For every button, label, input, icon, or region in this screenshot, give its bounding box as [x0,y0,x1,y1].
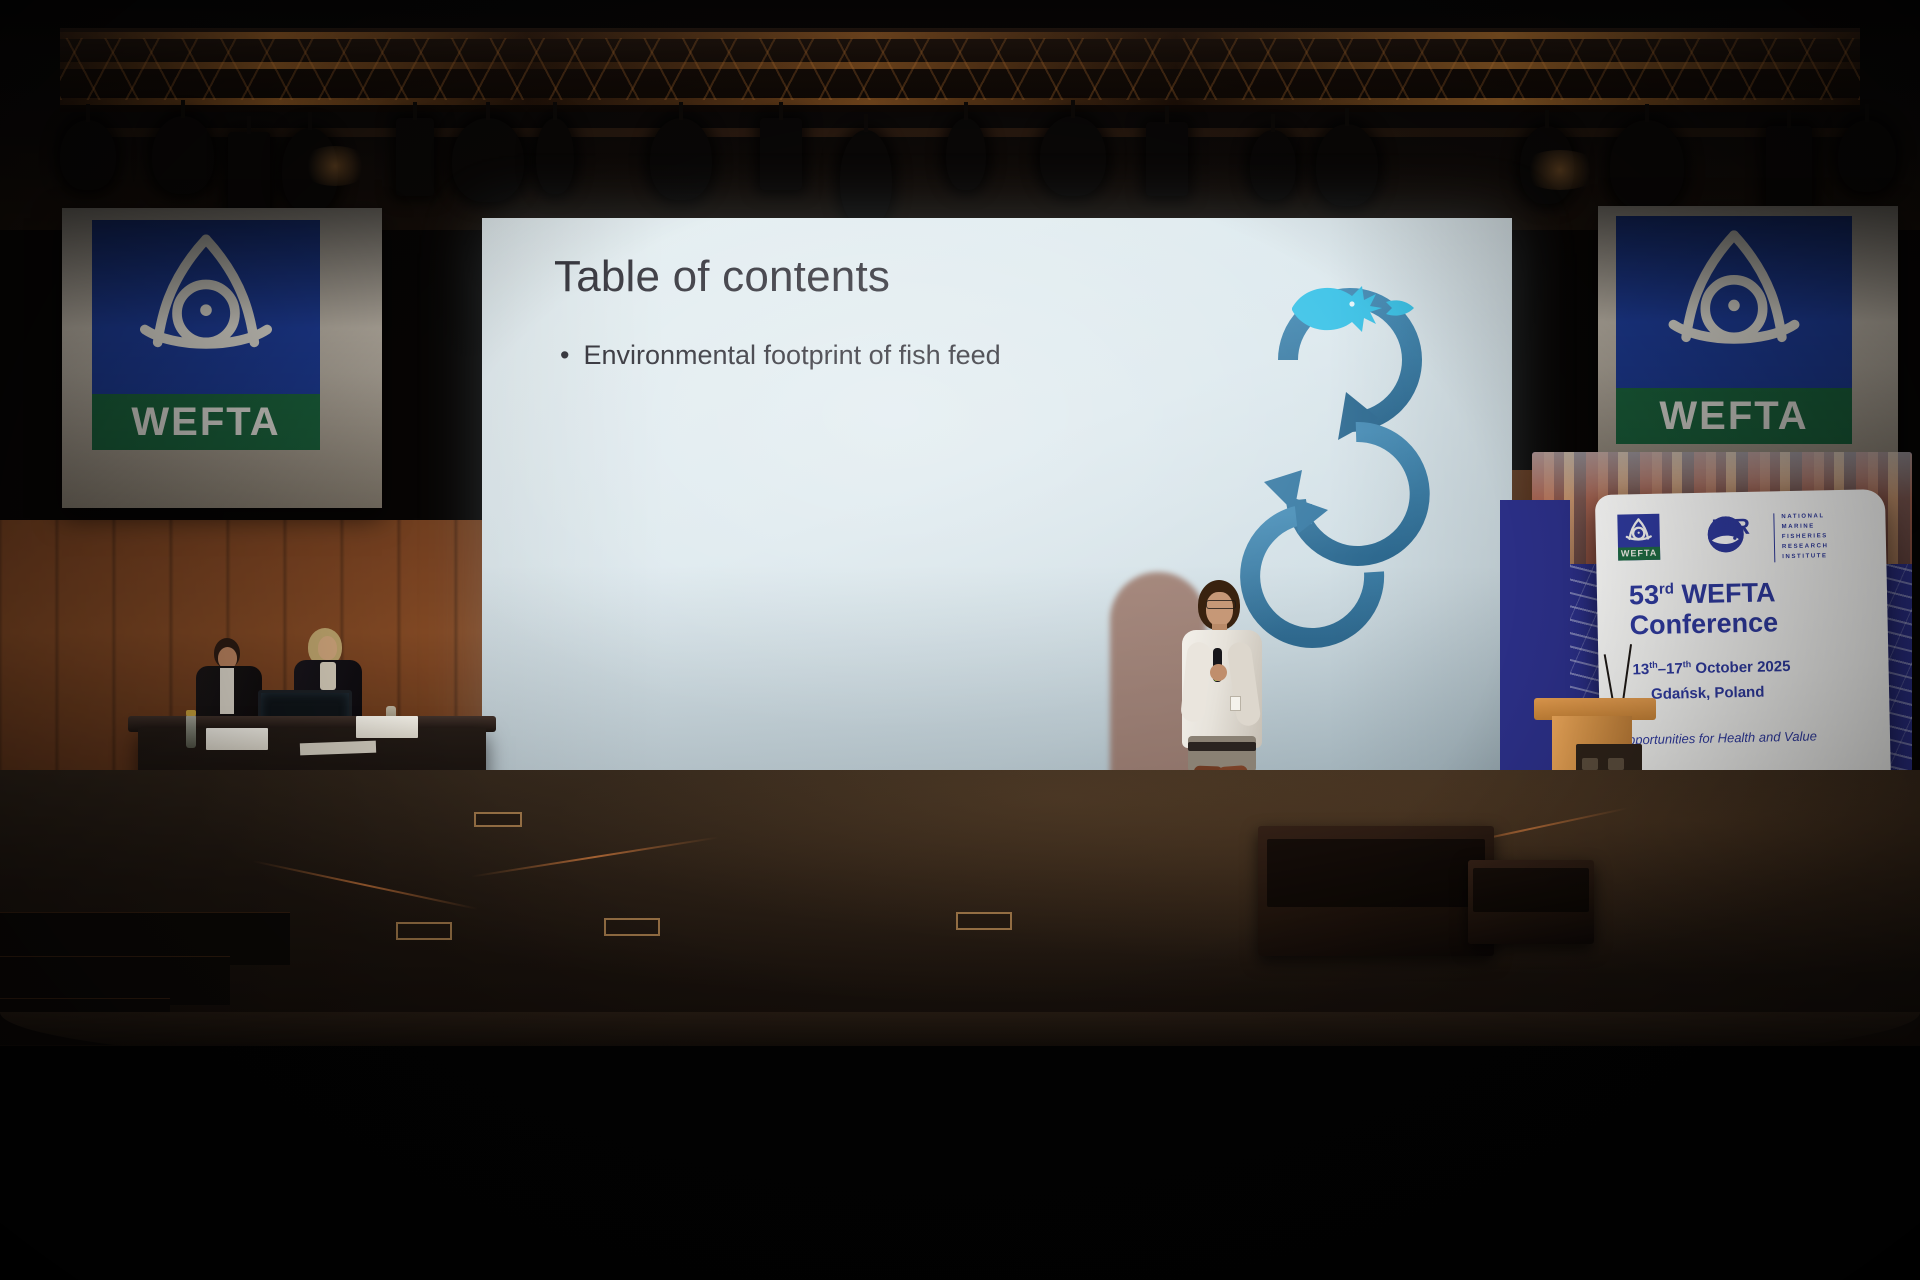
stage-light-icon [760,118,802,190]
stage-floor [0,770,1920,1050]
glasses-icon [1206,600,1236,609]
date-month-year: October 2025 [1691,658,1791,677]
mir-logo: MIR NATIONAL MARINE FISHERIES RESEARCH I… [1707,510,1858,555]
mir-subtitle-line: INSTITUTE [1782,551,1866,563]
slide-bullet-list: Environmental footprint of fish feed [560,340,1001,385]
auditorium-foreground [0,1046,1920,1280]
stage-light-icon [452,118,524,202]
stage-light-icon [152,116,214,194]
stage-light-icon [1838,120,1896,192]
floor-hatch [474,812,522,827]
stage-light-icon [1040,116,1106,196]
conference-dates: 13th–17th October 2025 [1632,657,1790,678]
floor-hatch [604,918,660,936]
floor-hatch [396,922,452,940]
wefta-mark-icon [1616,216,1852,376]
hand [1210,664,1227,681]
truss-chord-mid [60,62,1860,69]
stage-light-icon [1766,126,1812,210]
conference-tagline: pportunities for Health and Value [1628,727,1888,747]
wefta-mark-icon [1617,514,1660,548]
face [318,636,337,660]
date-start: 13 [1632,661,1649,678]
wefta-logo-small: WEFTA [1617,514,1660,561]
stage-light-icon [650,118,712,200]
truss-chord-bottom [60,98,1860,105]
conference-title: 53rd WEFTA Conference [1629,576,1860,641]
wefta-logo: WEFTA [92,220,320,450]
lighting-truss [60,28,1860,112]
lectern-button[interactable] [1582,758,1598,770]
conference-ordinal: rd [1659,580,1674,597]
stage-wedge-monitor [1468,860,1594,944]
mir-subtitle: NATIONAL MARINE FISHERIES RESEARCH INSTI… [1773,511,1866,562]
stage-light-icon [60,120,116,190]
speaker-grille [1267,839,1484,907]
name-card [206,728,268,750]
stage-light-icon [396,118,434,196]
stage-wedge-monitor [1258,826,1494,956]
conference-word: Conference [1629,607,1778,640]
stage-light-icon [536,118,574,194]
stage-light-icon [1610,120,1684,210]
bottle-cap [186,710,196,716]
projection-screen[interactable]: Table of contents Environmental footprin… [482,218,1512,778]
stage-light-icon [1520,126,1574,204]
speaker-grille [1473,868,1589,912]
wefta-wordmark: WEFTA [1616,388,1852,444]
wefta-mark-icon [92,220,320,381]
floor-hatch [956,912,1012,930]
slide-title: Table of contents [554,252,890,302]
conference-stage-photo: WEFTA WEFTA Table of [0,0,1920,1280]
conference-org: WEFTA [1674,577,1776,609]
truss-lattice [60,38,1860,100]
date-end-ordinal: th [1683,659,1692,669]
face [1206,592,1233,626]
projection-screen-frame: Table of contents Environmental footprin… [482,218,1512,778]
stage-light-icon [840,130,892,226]
wefta-wordmark-small: WEFTA [1618,547,1660,561]
shirt-front [220,668,234,714]
stage-light-icon [946,118,986,190]
lectern-button[interactable] [1608,758,1624,770]
conference-city: Gdańsk, Poland [1651,684,1765,703]
name-card [356,716,418,738]
mir-wordmark: MIR [1711,514,1749,541]
stage-light-icon [1146,122,1188,196]
water-bottle [186,714,196,748]
stage-light-icon [1316,124,1378,206]
date-range-sep: –17 [1658,660,1683,678]
conference-number: 53 [1629,580,1660,611]
stage-light-icon [1250,130,1296,200]
blouse-front [320,662,336,690]
wefta-wordmark: WEFTA [92,394,320,450]
belt [1188,742,1256,751]
stage-light-icon [282,128,338,212]
slide-bullet-item: Environmental footprint of fish feed [560,340,1001,371]
lanyard-badge [1230,696,1241,711]
wefta-logo: WEFTA [1616,216,1852,444]
wefta-banner-left: WEFTA [62,208,382,508]
